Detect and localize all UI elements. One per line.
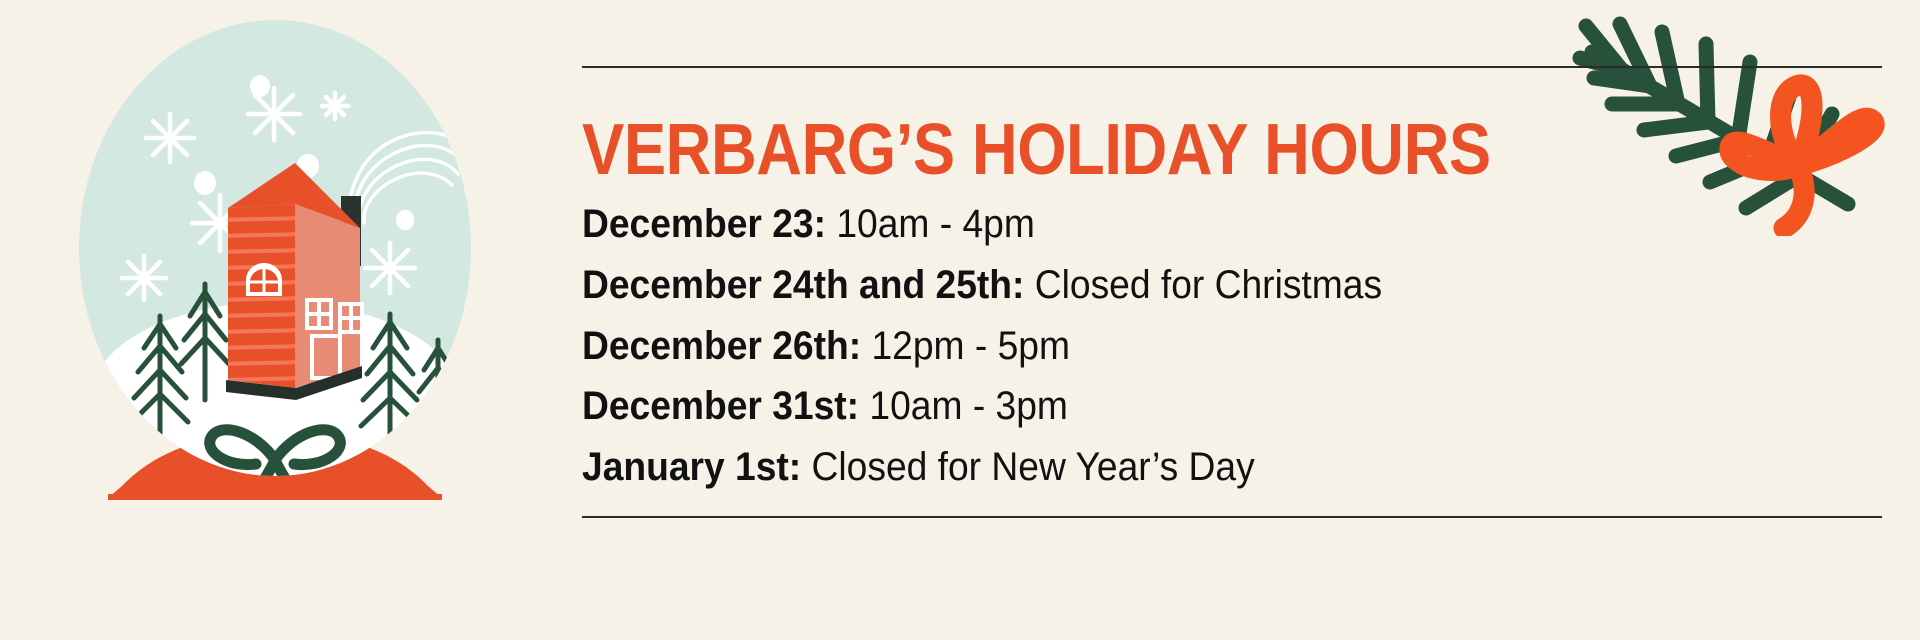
hours-time-value: 10am - 4pm — [836, 202, 1034, 246]
hours-date-label: December 24th and 25th: — [582, 263, 1024, 307]
hours-date-label: December 23: — [582, 202, 826, 246]
list-item: December 23: 10am - 4pm — [582, 194, 1791, 255]
page-title: VERBARG’S HOLIDAY HOURS — [582, 114, 1726, 186]
holiday-hours-banner: VERBARG’S HOLIDAY HOURS December 23: 10a… — [0, 0, 1920, 640]
hours-date-label: December 26th: — [582, 324, 861, 368]
hours-time-value: Closed for New Year’s Day — [812, 445, 1255, 489]
hours-time-value: 12pm - 5pm — [871, 324, 1069, 368]
list-item: January 1st: Closed for New Year’s Day — [582, 437, 1791, 498]
hours-date-label: January 1st: — [582, 445, 801, 489]
snow-globe-illustration — [60, 8, 490, 632]
holiday-hours-list: December 23: 10am - 4pm December 24th an… — [582, 194, 1882, 498]
content-column: VERBARG’S HOLIDAY HOURS December 23: 10a… — [582, 66, 1882, 586]
top-divider-rule — [582, 66, 1882, 68]
list-item: December 31st: 10am - 3pm — [582, 376, 1791, 437]
hours-time-value: 10am - 3pm — [869, 384, 1067, 428]
hours-time-value: Closed for Christmas — [1035, 263, 1382, 307]
list-item: December 24th and 25th: Closed for Chris… — [582, 255, 1791, 316]
bottom-divider-rule — [582, 516, 1882, 518]
attic-window — [248, 265, 280, 294]
hours-date-label: December 31st: — [582, 384, 859, 428]
list-item: December 26th: 12pm - 5pm — [582, 316, 1791, 377]
house-side-face — [295, 204, 360, 388]
